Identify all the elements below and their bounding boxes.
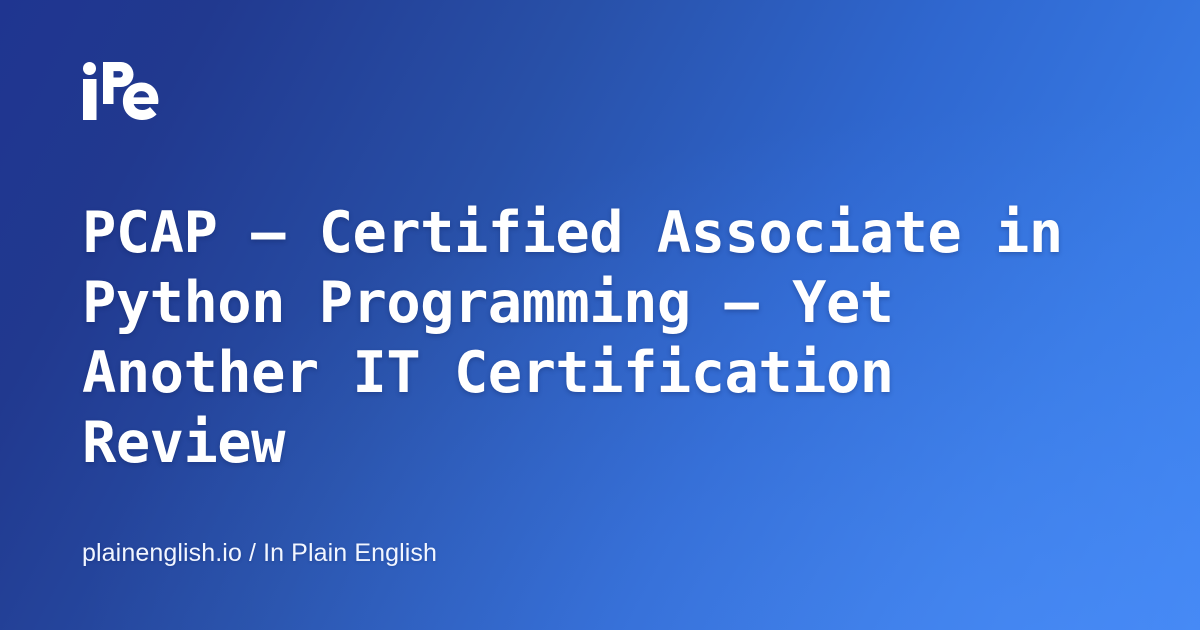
site-attribution[interactable]: plainenglish.io / In Plain English bbox=[82, 538, 1118, 568]
page-title: PCAP — Certified Associate in Python Pro… bbox=[82, 198, 1118, 478]
open-graph-card: PCAP — Certified Associate in Python Pro… bbox=[0, 0, 1200, 630]
ipe-logo-svg bbox=[82, 62, 160, 120]
card-content: PCAP — Certified Associate in Python Pro… bbox=[0, 0, 1200, 630]
title-block: PCAP — Certified Associate in Python Pro… bbox=[82, 138, 1118, 538]
ipe-logo-icon[interactable] bbox=[82, 62, 160, 120]
